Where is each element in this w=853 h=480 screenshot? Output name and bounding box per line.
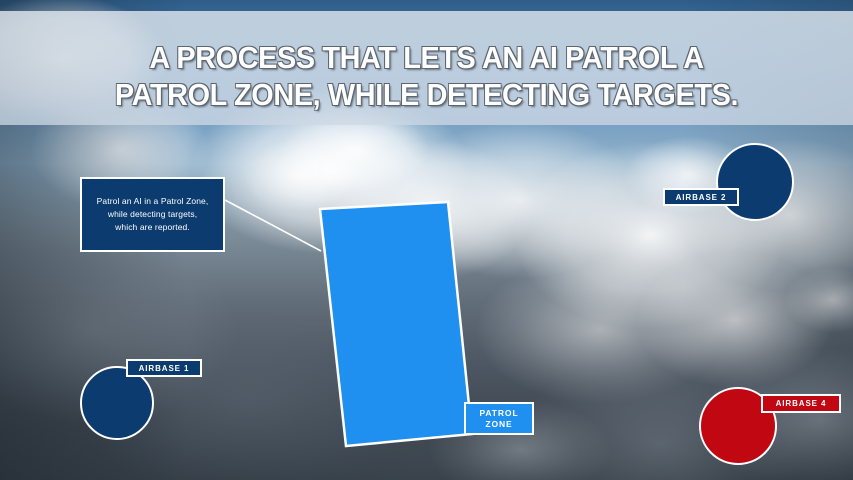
slide-canvas: A PROCESS THAT LETS AN AI PATROL A PATRO… — [0, 0, 853, 480]
airbase-1-label[interactable]: AIRBASE 1 — [126, 359, 202, 377]
airbase-1-marker[interactable] — [81, 367, 153, 439]
callout-box[interactable]: Patrol an AI in a Patrol Zone, while det… — [80, 177, 225, 252]
patrol-zone-label[interactable]: PATROL ZONE — [464, 402, 534, 435]
airbase-2-marker[interactable] — [717, 144, 793, 220]
airbase-4-label[interactable]: AIRBASE 4 — [761, 394, 841, 413]
airbase-2-label[interactable]: AIRBASE 2 — [663, 188, 739, 206]
callout-to-zone-connector-line — [225, 200, 321, 251]
patrol-zone-polygon[interactable] — [320, 202, 472, 446]
callout-text: Patrol an AI in a Patrol Zone, while det… — [91, 195, 215, 234]
